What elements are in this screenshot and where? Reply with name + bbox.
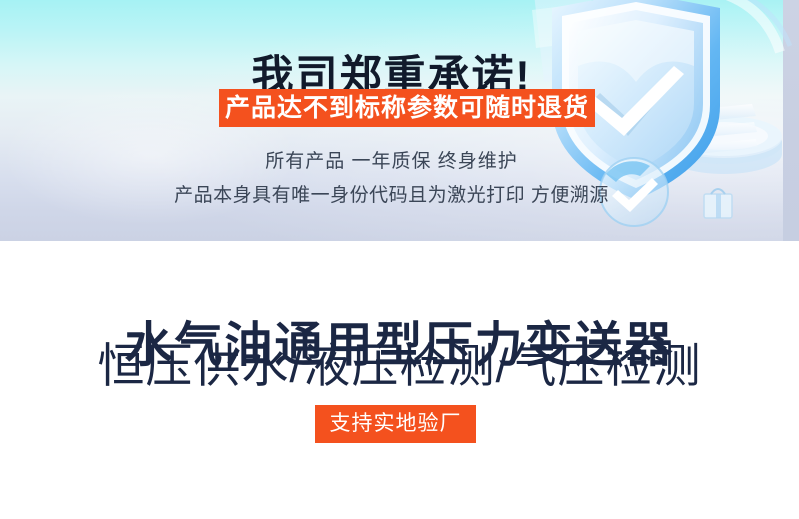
promise-text-content: 我司郑重承诺! 产品达不到标称参数可随时退货 所有产品 一年质保 终身维护 产品… xyxy=(0,0,783,241)
banner-right-edge-strip xyxy=(783,0,799,241)
factory-inspection-badge: 支持实地验厂 xyxy=(315,405,476,443)
guarantee-badge: 产品达不到标称参数可随时退货 xyxy=(219,89,595,127)
product-title-block: 水气油通用型压力变送器 恒压供水/液压检测/气压检测 支持实地验厂 xyxy=(0,241,799,519)
promise-banner: 我司郑重承诺! 产品达不到标称参数可随时退货 所有产品 一年质保 终身维护 产品… xyxy=(0,0,799,241)
warranty-note-line-1: 所有产品 一年质保 终身维护 xyxy=(0,146,783,173)
warranty-note-line-2: 产品本身具有唯一身份代码且为激光打印 方便溯源 xyxy=(0,180,783,207)
product-subtitle: 恒压供水/液压检测/气压检测 xyxy=(0,340,799,392)
product-promo-page: 我司郑重承诺! 产品达不到标称参数可随时退货 所有产品 一年质保 终身维护 产品… xyxy=(0,0,799,519)
